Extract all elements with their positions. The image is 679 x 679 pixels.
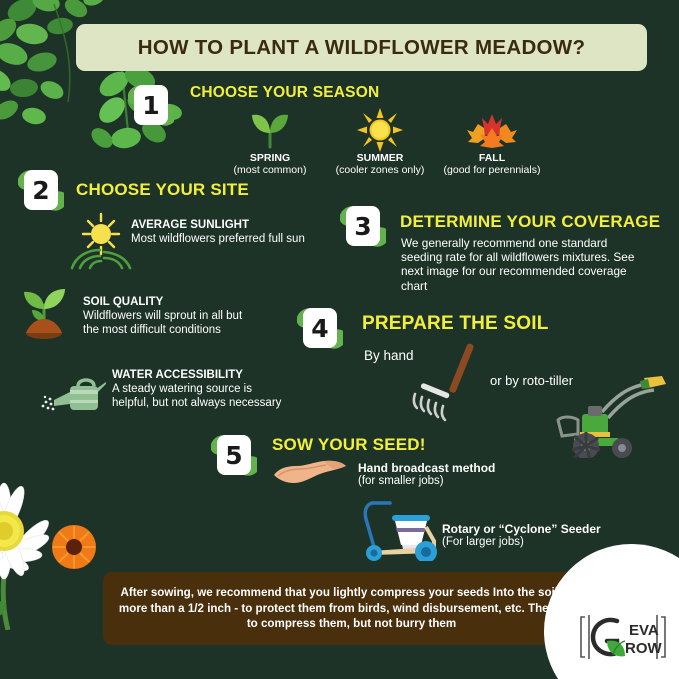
- sprout-icon: [249, 111, 291, 149]
- sow-method-note-hand: (for smaller jobs): [358, 475, 444, 489]
- svg-text:ROW: ROW: [625, 640, 663, 657]
- step-badge-2: 2: [18, 167, 64, 213]
- header-banner: HOW TO PLANT A WILDFLOWER MEADOW?: [76, 24, 647, 71]
- step-badge-3: 3: [340, 203, 386, 249]
- season-note-fall: (good for perennials): [437, 164, 547, 176]
- sow-method-heading-hand: Hand broadcast method: [358, 461, 495, 475]
- site-item-body-soil: Wildflowers will sprout in all but the m…: [83, 310, 258, 337]
- site-item-body-water: A steady watering source is helpful, but…: [112, 383, 287, 410]
- logo-text-line1: EVA: [629, 622, 659, 639]
- season-name-fall: FALL: [452, 152, 532, 164]
- sun-icon: [357, 108, 403, 152]
- season-note-summer: (cooler zones only): [325, 164, 435, 176]
- watering-can-icon: [40, 372, 106, 418]
- step-body-3: We generally recommend one standard seed…: [401, 236, 651, 293]
- step-title-3: DETERMINE YOUR COVERAGE: [400, 212, 660, 232]
- season-name-summer: SUMMER: [340, 152, 420, 164]
- sun-over-grass-icon: [68, 212, 134, 270]
- seedling-in-soil-icon: [16, 283, 72, 339]
- note-text: After sowing, we recommend that you ligh…: [103, 585, 600, 632]
- rotary-seeder-icon: [348, 497, 440, 561]
- step-number-4: 4: [303, 308, 337, 348]
- brand-logo: EVA ROW: [577, 611, 669, 663]
- infographic-canvas: HOW TO PLANT A WILDFLOWER MEADOW? 1 CHOO…: [0, 0, 679, 679]
- step-title-4: PREPARE THE SOIL: [362, 313, 549, 335]
- step-title-2: CHOOSE YOUR SITE: [76, 180, 249, 200]
- note-box: After sowing, we recommend that you ligh…: [103, 572, 600, 645]
- page-title: HOW TO PLANT A WILDFLOWER MEADOW?: [138, 36, 586, 60]
- step-badge-5: 5: [211, 432, 257, 478]
- roto-tiller-icon: [540, 368, 670, 458]
- step-title-1: CHOOSE YOUR SEASON: [190, 84, 379, 102]
- site-item-body-sunlight: Most wildflowers preferred full sun: [131, 233, 306, 247]
- sow-method-heading-seeder: Rotary or “Cyclone” Seeder: [442, 522, 601, 536]
- step-number-1: 1: [134, 85, 168, 125]
- step-badge-4: 4: [297, 305, 343, 351]
- maple-leaf-icon: [466, 110, 518, 152]
- step-title-5: SOW YOUR SEED!: [272, 435, 426, 455]
- season-name-spring: SPRING: [230, 152, 310, 164]
- rake-icon: [400, 340, 480, 422]
- step-number-5: 5: [217, 435, 251, 475]
- daisy-flower-decoration: [0, 455, 117, 630]
- sow-method-note-seeder: (For larger jobs): [442, 536, 524, 550]
- season-note-spring: (most common): [220, 164, 320, 176]
- site-item-heading-water: WATER ACCESSIBILITY: [112, 369, 243, 381]
- step-number-3: 3: [346, 206, 380, 246]
- site-item-heading-soil: SOIL QUALITY: [83, 296, 163, 308]
- step-badge-1: 1: [128, 82, 174, 128]
- step-number-2: 2: [24, 170, 58, 210]
- site-item-heading-sunlight: AVERAGE SUNLIGHT: [131, 219, 249, 231]
- open-hand-icon: [272, 458, 350, 490]
